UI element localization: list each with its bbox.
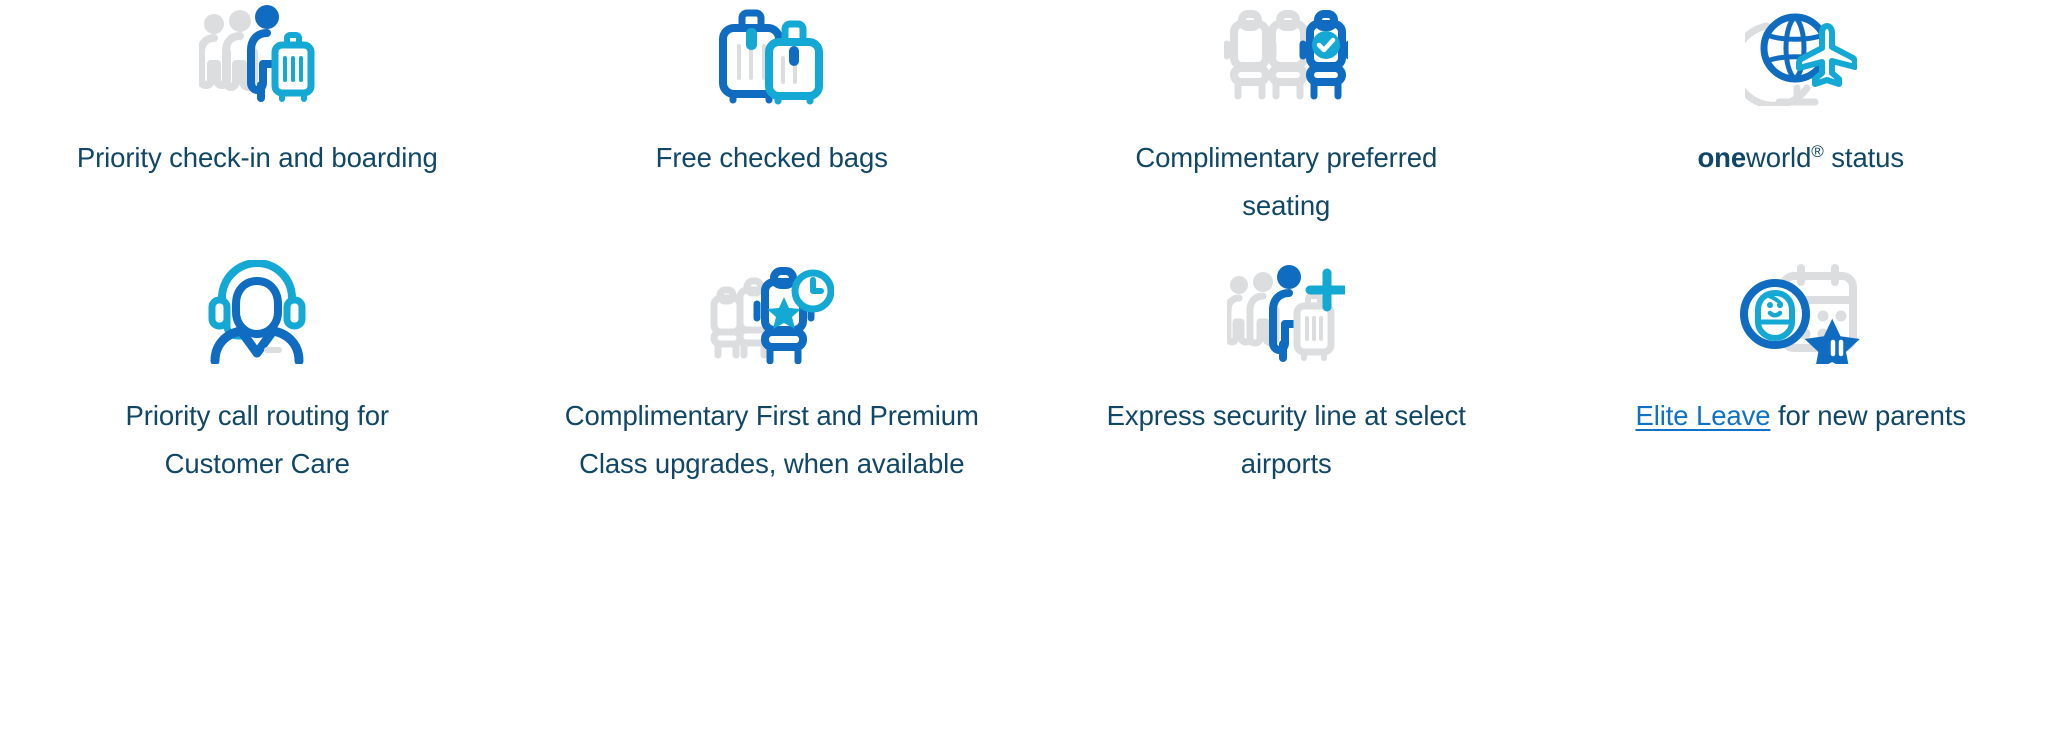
- passenger-queue-with-suitcase-icon: [187, 0, 327, 108]
- benefit-item-priority-check-in: Priority check-in and boarding: [0, 0, 515, 258]
- benefits-grid: Priority check-in and boarding Free chec…: [0, 0, 2058, 750]
- baby-calendar-star-icon: [1731, 258, 1871, 366]
- benefit-item-class-upgrades: Complimentary First and Premium Class up…: [515, 258, 1030, 750]
- elite-leave-link[interactable]: Elite Leave: [1635, 400, 1770, 431]
- benefit-item-oneworld-status: oneworld® status: [1544, 0, 2058, 258]
- benefit-label: Complimentary First and Premium Class up…: [542, 392, 1002, 488]
- benefit-item-free-checked-bags: Free checked bags: [515, 0, 1030, 258]
- elite-leave-suffix: for new parents: [1770, 400, 1966, 431]
- benefit-label: Express security line at select airports: [1096, 392, 1476, 488]
- benefit-label-elite-leave: Elite Leave for new parents: [1635, 392, 1966, 440]
- two-suitcases-icon: [702, 0, 842, 108]
- globe-with-airplane-icon: [1731, 0, 1871, 108]
- benefit-label: Free checked bags: [656, 134, 888, 182]
- benefit-item-elite-leave: Elite Leave for new parents: [1544, 258, 2058, 750]
- upgrade-seat-star-clock-icon: [702, 258, 842, 366]
- oneworld-bold-prefix: one: [1697, 142, 1746, 173]
- benefit-item-priority-call-routing: Priority call routing for Customer Care: [0, 258, 515, 750]
- registered-mark: ®: [1811, 142, 1823, 161]
- benefit-label: Priority call routing for Customer Care: [67, 392, 447, 488]
- benefit-item-preferred-seating: Complimentary preferred seating: [1029, 0, 1544, 258]
- customer-care-headset-icon: [187, 258, 327, 366]
- airline-seats-with-check-icon: [1216, 0, 1356, 108]
- benefit-item-express-security: Express security line at select airports: [1029, 258, 1544, 750]
- oneworld-suffix: status: [1824, 142, 1904, 173]
- benefit-label-oneworld: oneworld® status: [1697, 134, 1904, 182]
- benefit-label: Priority check-in and boarding: [77, 134, 438, 182]
- oneworld-regular: world: [1746, 142, 1811, 173]
- express-security-queue-plus-icon: [1216, 258, 1356, 366]
- benefit-label: Complimentary preferred seating: [1096, 134, 1476, 230]
